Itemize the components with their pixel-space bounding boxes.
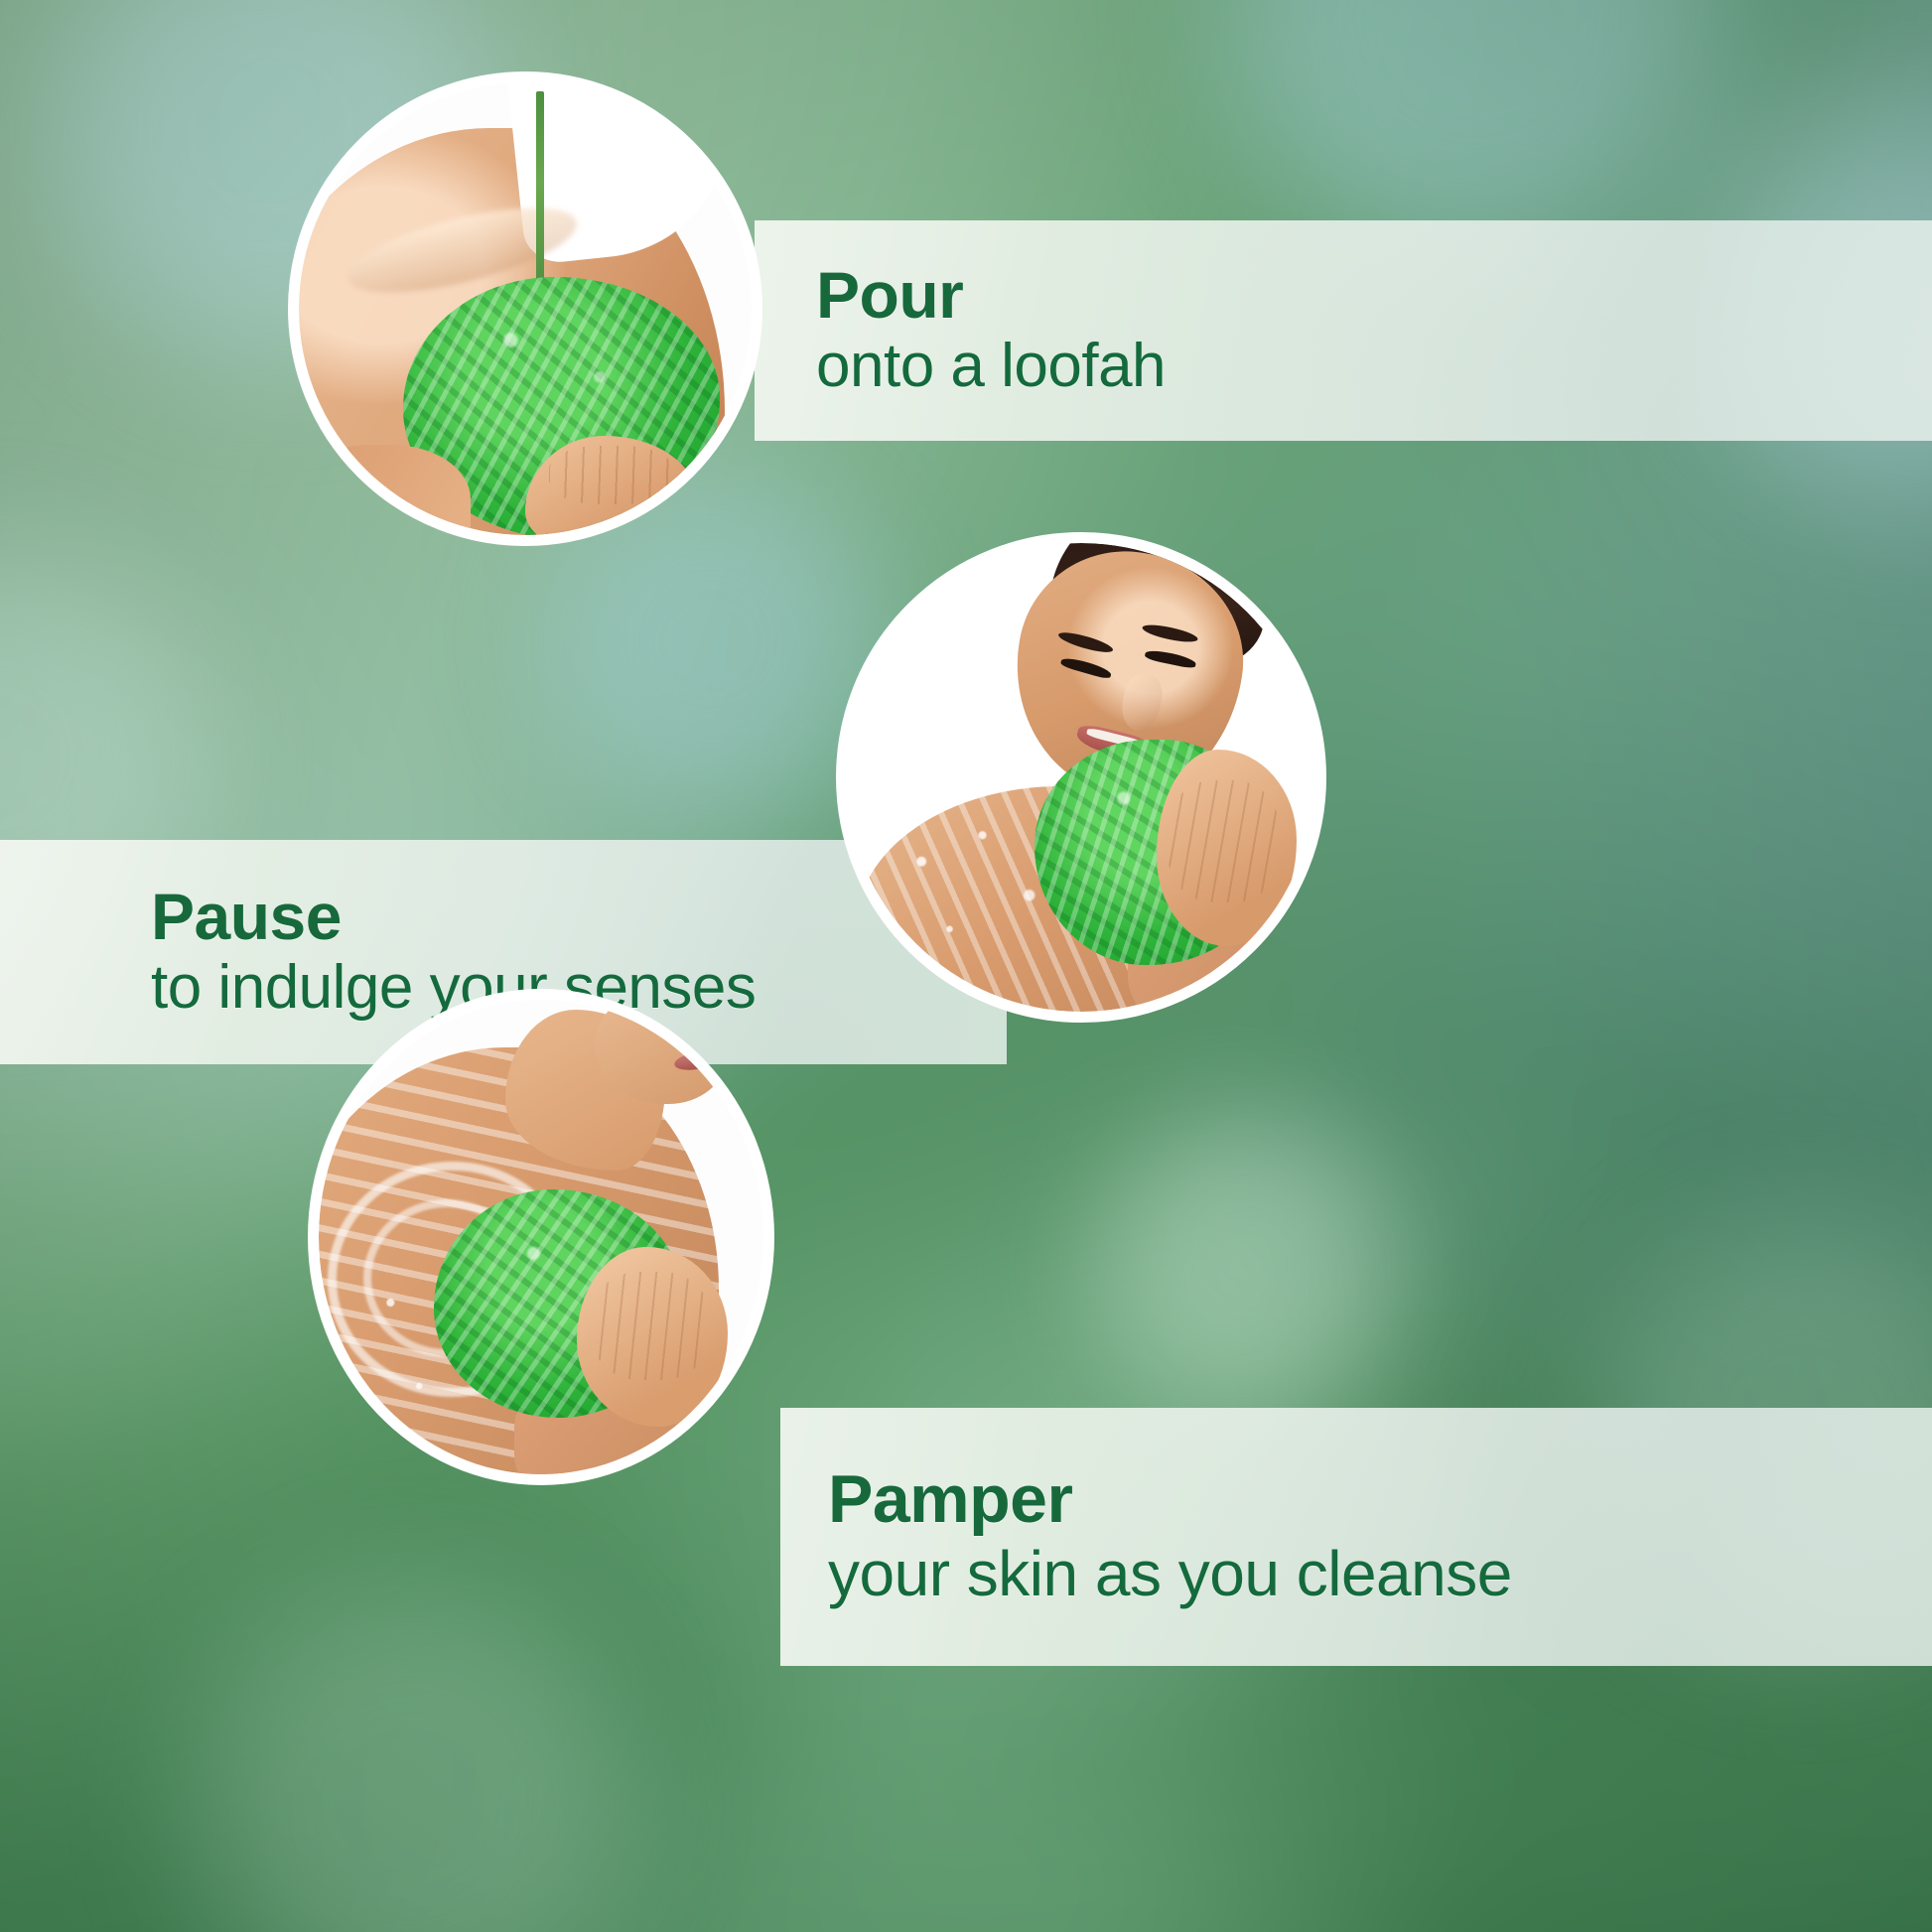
photo-pamper-scene xyxy=(319,1000,763,1474)
step-headline-pour: Pour xyxy=(816,262,1932,328)
infographic-canvas: Pour onto a loofah Pause to indulge your… xyxy=(0,0,1932,1932)
photo-pamper xyxy=(308,989,774,1485)
hand xyxy=(577,1247,728,1428)
photo-pause-scene xyxy=(847,543,1315,1012)
step-banner-pour: Pour onto a loofah xyxy=(755,220,1932,441)
step-banner-pamper: Pamper your skin as you cleanse xyxy=(780,1408,1932,1666)
photo-pause xyxy=(836,532,1326,1023)
photo-pour xyxy=(288,71,762,546)
step-subtitle-pour: onto a loofah xyxy=(816,334,1932,398)
photo-pour-scene xyxy=(299,82,752,535)
step-headline-pamper: Pamper xyxy=(828,1465,1932,1533)
step-subtitle-pamper: your skin as you cleanse xyxy=(828,1541,1932,1607)
